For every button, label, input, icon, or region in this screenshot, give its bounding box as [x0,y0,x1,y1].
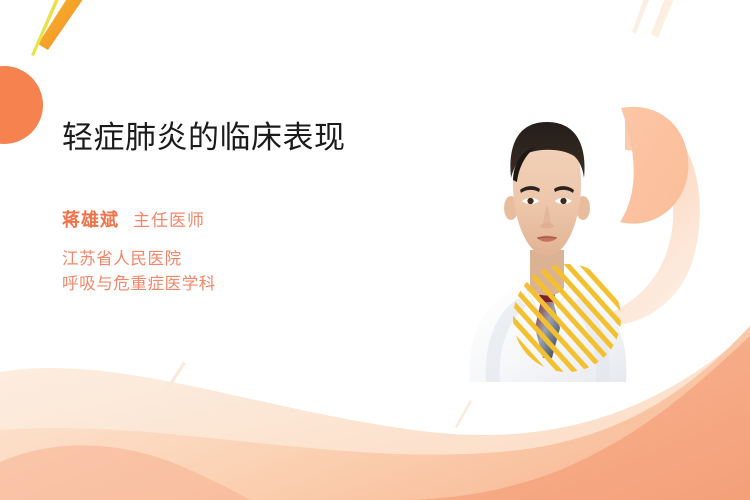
speaker-line: 蒋雄斌 主任医师 [62,206,407,232]
slide-card: 轻症肺炎的临床表现 蒋雄斌 主任医师 江苏省人民医院 呼吸与危重症医学科 [0,0,750,500]
affiliation-line-hospital: 江苏省人民医院 [62,246,407,271]
affiliation-block: 江苏省人民医院 呼吸与危重症医学科 [62,246,407,296]
text-block: 轻症肺炎的临床表现 蒋雄斌 主任医师 江苏省人民医院 呼吸与危重症医学科 [62,118,407,296]
doctor-neck [530,250,564,296]
speaker-name: 蒋雄斌 [62,206,119,232]
affiliation-line-department: 呼吸与危重症医学科 [62,271,407,296]
page-title: 轻症肺炎的临床表现 [62,118,407,158]
doctor-portrait [440,92,655,382]
speaker-professional-title: 主任医师 [133,206,205,231]
doctor-portrait-image [440,92,655,382]
